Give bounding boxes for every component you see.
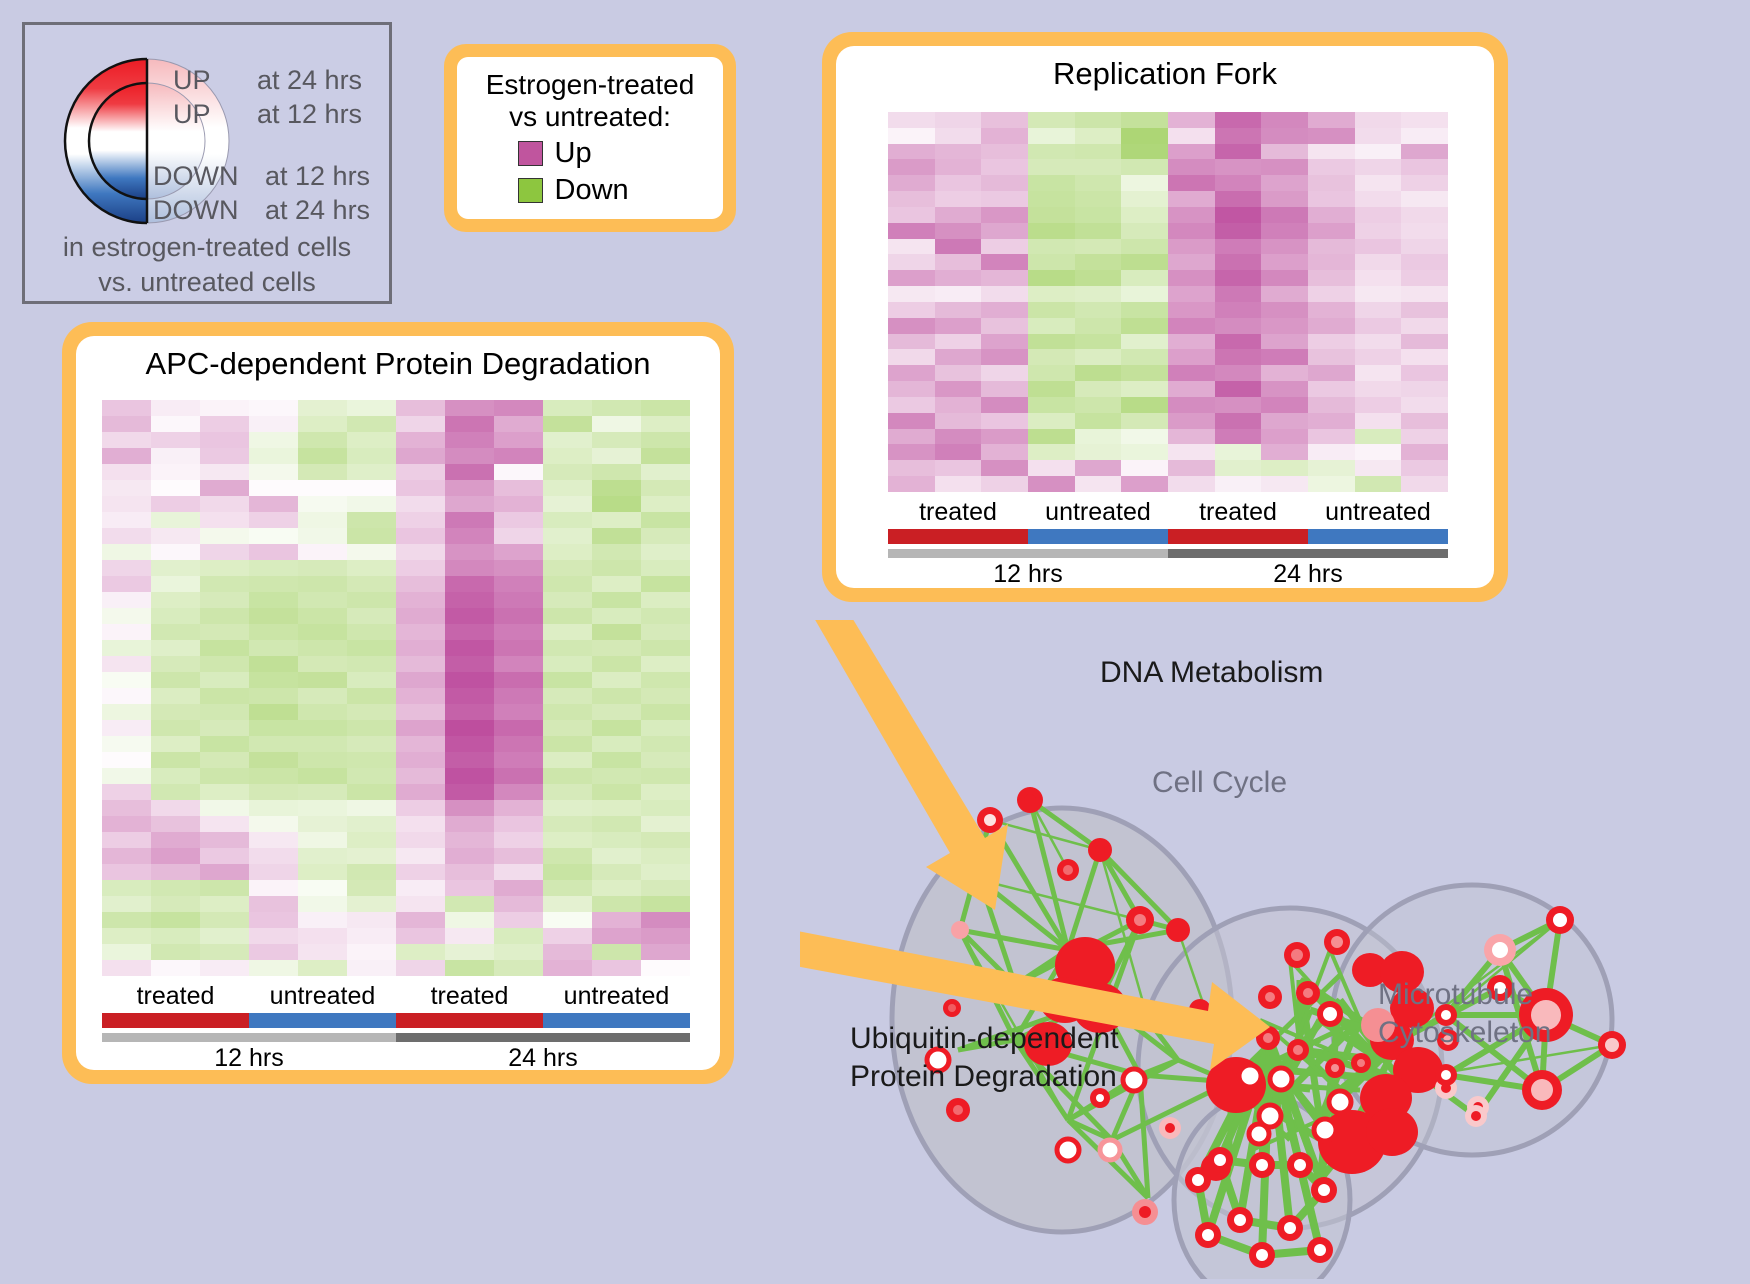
heatmap-cell [1401,286,1448,302]
heatmap-cell [347,512,396,528]
heatmap-cell [1028,270,1075,286]
heatmap-cell [641,688,690,704]
heatmap-cell [981,397,1028,413]
heatmap-cell [1355,112,1402,128]
heatmap-cell [1308,397,1355,413]
heatmap-cell [249,848,298,864]
heatmap-cell [445,656,494,672]
heatmap-cell [249,864,298,880]
heatmap-cell [1261,429,1308,445]
heatmap-cell [396,704,445,720]
heatmap-cell [592,784,641,800]
estrogen-legend-heading-line1: Estrogen-treated [467,69,713,101]
heatmap-cell [151,448,200,464]
heatmap-cell [1168,144,1215,160]
heatmap-cell [1308,429,1355,445]
heatmap-cell [102,464,151,480]
heatmap-cell [1215,239,1262,255]
cluster-label-cell-cycle: Cell Cycle [1152,766,1287,799]
heatmap-cell [298,416,347,432]
heatmap-cell [981,334,1028,350]
heatmap-cell [1308,223,1355,239]
heatmap-cell [445,736,494,752]
heatmap-cell [1355,144,1402,160]
heatmap-cell [151,544,200,560]
heatmap-cell [445,720,494,736]
heatmap-cell [592,912,641,928]
heatmap-cell [543,416,592,432]
heatmap-cell [249,416,298,432]
heatmap-cell [888,175,935,191]
heatmap-cell [151,400,200,416]
heatmap-cell [641,928,690,944]
group-label: untreated [1028,498,1168,527]
heatmap-cell [151,752,200,768]
timepoint-label: 24 hrs [396,1044,690,1073]
heatmap-cell [298,768,347,784]
heatmap-cell [641,448,690,464]
heatmap-cell [543,576,592,592]
heatmap-cell [347,560,396,576]
heatmap-cell [1075,413,1122,429]
heatmap-cell [445,480,494,496]
heatmap-cell [445,896,494,912]
heatmap-cell [1075,112,1122,128]
heatmap-cell [1168,381,1215,397]
heatmap-cell [543,672,592,688]
heatmap-cell [298,480,347,496]
heatmap-cell [1401,318,1448,334]
heatmap-cell [1168,270,1215,286]
heatmap-cell [102,784,151,800]
heatmap-cell [543,448,592,464]
heatmap-cell [1168,239,1215,255]
heatmap-cell [249,544,298,560]
down-color-swatch-icon [518,178,543,203]
heatmap-cell [981,239,1028,255]
heatmap-cell [981,476,1028,492]
heatmap-cell [1121,365,1168,381]
heatmap-cell [347,704,396,720]
heatmap-cell [543,640,592,656]
heatmap-cell [1215,476,1262,492]
heatmap-cell [494,864,543,880]
heatmap-cell [396,400,445,416]
heatmap-cell [641,800,690,816]
heatmap-cell [1308,175,1355,191]
heatmap-cell [1308,254,1355,270]
heatmap-cell [1261,413,1308,429]
up-color-swatch-icon [518,141,543,166]
heatmap-cell [1121,397,1168,413]
heatmap-cell [200,560,249,576]
heatmap-cell [1168,207,1215,223]
heatmap-cell [445,688,494,704]
heatmap-cell [1215,254,1262,270]
heatmap-cell [641,544,690,560]
heatmap-cell [1075,302,1122,318]
heatmap-cell [543,512,592,528]
group-labels-replication-fork: treateduntreatedtreateduntreated [888,498,1448,527]
group-label: untreated [1308,498,1448,527]
heatmap-cell [396,544,445,560]
heatmap-cell [1215,159,1262,175]
heatmap-cell [494,912,543,928]
heatmap-cell [641,784,690,800]
heatmap-cell [200,640,249,656]
heatmap-cell [445,864,494,880]
heatmap-cell [1028,207,1075,223]
heatmap-cell [298,400,347,416]
heatmap-cell [1401,349,1448,365]
heatmap-cell [102,720,151,736]
heatmap-cell [592,624,641,640]
heatmap-cell [249,704,298,720]
heatmap-cell [200,544,249,560]
heatmap-cell [298,704,347,720]
heatmap-cell [888,349,935,365]
network-svg: DNA Metabolism Cell Cycle Microtubule Cy… [800,620,1750,1279]
heatmap-cell [249,560,298,576]
heatmap-cell [1215,413,1262,429]
heatmap-cell [935,175,982,191]
heatmap-cell [1215,318,1262,334]
heatmap-cell [1168,175,1215,191]
heatmap-cell [396,512,445,528]
heatmap-cell [249,768,298,784]
heatmap-cell [592,880,641,896]
heatmap-cell [1308,460,1355,476]
heatmap-cell [981,429,1028,445]
heatmap-cell [347,576,396,592]
heatmap-cell [396,640,445,656]
heatmap-cell [1308,270,1355,286]
heatmap-cell [592,640,641,656]
heatmap-cell [151,816,200,832]
heatmap-cell [151,928,200,944]
heatmap-replication-fork [888,112,1448,492]
heatmap-cell [249,608,298,624]
heatmap-cell [249,688,298,704]
heatmap-cell [102,912,151,928]
heatmap-cell [592,816,641,832]
heatmap-cell [592,800,641,816]
heatmap-cell [102,400,151,416]
treatment-bar-segment [1308,529,1448,544]
heatmap-cell [151,896,200,912]
heatmap-cell [396,720,445,736]
heatmap-cell [543,608,592,624]
heatmap-cell [102,672,151,688]
heatmap-cell [981,381,1028,397]
heatmap-cell [445,784,494,800]
heatmap-cell [1308,207,1355,223]
heatmap-cell [200,672,249,688]
heatmap-cell [494,848,543,864]
heatmap-cell [200,960,249,976]
heatmap-cell [298,640,347,656]
heatmap-cell [445,464,494,480]
estrogen-legend-item-down: Down [467,174,713,207]
heatmap-cell [298,688,347,704]
heatmap-cell [494,816,543,832]
heatmap-cell [445,544,494,560]
heatmap-cell [249,592,298,608]
heatmap-cell [396,944,445,960]
heatmap-cell [1121,191,1168,207]
heatmap-cell [1401,429,1448,445]
heatmap-cell [200,864,249,880]
heatmap-cell [249,432,298,448]
heatmap-cell [151,576,200,592]
heatmap-cell [298,736,347,752]
heatmap-cell [445,592,494,608]
heatmap-cell [1215,381,1262,397]
heatmap-cell [1121,476,1168,492]
heatmap-cell [396,432,445,448]
heatmap-cell [347,848,396,864]
heatmap-cell [494,496,543,512]
heatmap-cell [200,512,249,528]
heatmap-cell [543,864,592,880]
heatmap-cell [1215,191,1262,207]
heatmap-cell [888,159,935,175]
heatmap-cell [641,864,690,880]
heatmap-cell [1028,429,1075,445]
heatmap-cell [1215,460,1262,476]
estrogen-legend-up-label: Up [555,137,663,170]
heatmap-cell [298,672,347,688]
heatmap-cell [347,800,396,816]
heatmap-cell [641,720,690,736]
heatmap-cell [396,416,445,432]
heatmap-cell [1355,159,1402,175]
heatmap-cell [200,736,249,752]
heatmap-cell [1215,207,1262,223]
heatmap-cell [102,432,151,448]
heatmap-cell [1121,270,1168,286]
heatmap-cell [543,704,592,720]
heatmap-cell [888,381,935,397]
heatmap-cell [298,560,347,576]
heatmap-cell [935,144,982,160]
heatmap-cell [543,816,592,832]
heatmap-cell [298,848,347,864]
heatmap-cell [1261,207,1308,223]
heatmap-cell [1401,476,1448,492]
timepoint-labels-replication-fork: 12 hrs24 hrs [888,560,1448,589]
heatmap-cell [1168,159,1215,175]
heatmap-cell [151,496,200,512]
heatmap-cell [981,270,1028,286]
heatmap-cell [396,928,445,944]
heatmap-cell [396,672,445,688]
heatmap-cell [102,480,151,496]
heatmap-cell [200,608,249,624]
heatmap-cell [396,608,445,624]
heatmap-cell [1261,444,1308,460]
heatmap-cell [445,880,494,896]
heatmap-cell [298,624,347,640]
heatmap-cell [592,960,641,976]
heatmap-cell [494,880,543,896]
heatmap-cell [200,656,249,672]
heatmap-cell [1401,302,1448,318]
heatmap-cell [1261,476,1308,492]
heatmap-cell [1075,444,1122,460]
heatmap-cell [1308,365,1355,381]
heatmap-cell [396,784,445,800]
heatmap-cell [298,752,347,768]
heatmap-cell [1355,318,1402,334]
heatmap-cell [1121,175,1168,191]
heatmap-cell [543,544,592,560]
heatmap-cell [102,416,151,432]
heatmap-cell [1028,128,1075,144]
heatmap-cell [200,592,249,608]
heatmap-cell [298,960,347,976]
group-labels-apc-degradation: treateduntreatedtreateduntreated [102,982,690,1011]
heatmap-cell [102,896,151,912]
heatmap-cell [445,672,494,688]
heatmap-cell [347,896,396,912]
heatmap-cell [200,704,249,720]
heatmap-cell [1028,413,1075,429]
heatmap-cell [1121,223,1168,239]
panel-apc-degradation-inner: APC-dependent Protein Degradation treate… [76,336,720,1070]
heatmap-cell [102,560,151,576]
heatmap-cell [249,480,298,496]
heatmap-cell [888,476,935,492]
heatmap-cell [888,128,935,144]
heatmap-cell [1121,381,1168,397]
heatmap-cell [494,512,543,528]
heatmap-cell [1075,286,1122,302]
heatmap-cell [347,624,396,640]
heatmap-cell [200,912,249,928]
heatmap-cell [1261,175,1308,191]
heatmap-cell [396,592,445,608]
heatmap-cell [1075,128,1122,144]
heatmap-cell [981,318,1028,334]
heatmap-cell [543,720,592,736]
heatmap-cell [592,512,641,528]
heatmap-cell [935,444,982,460]
heatmap-cell [1215,223,1262,239]
heatmap-cell [151,592,200,608]
heatmap-cell [151,640,200,656]
heatmap-cell [396,464,445,480]
heatmap-cell [1401,239,1448,255]
heatmap-cell [102,960,151,976]
heatmap-cell [494,400,543,416]
heatmap-cell [445,400,494,416]
heatmap-cell [1121,302,1168,318]
heatmap-cell [298,576,347,592]
heatmap-cell [151,832,200,848]
heatmap-cell [1401,270,1448,286]
heatmap-cell [1215,175,1262,191]
heatmap-cell [494,768,543,784]
heatmap-cell [592,448,641,464]
heatmap-cell [641,640,690,656]
heatmap-cell [592,832,641,848]
heatmap-cell [1168,302,1215,318]
heatmap-cell [445,624,494,640]
heatmap-cell [396,816,445,832]
heatmap-cell [888,191,935,207]
heatmap-cell [151,704,200,720]
ring-time-down-24: at 24 hrs [265,195,370,226]
heatmap-cell [249,400,298,416]
heatmap-cell [1261,270,1308,286]
heatmap-cell [298,944,347,960]
heatmap-cell [347,400,396,416]
heatmap-cell [543,528,592,544]
heatmap-cell [249,736,298,752]
heatmap-cell [445,768,494,784]
heatmap-cell [1355,302,1402,318]
heatmap-cell [151,944,200,960]
heatmap-cell [543,896,592,912]
heatmap-cell [1028,365,1075,381]
heatmap-cell [249,640,298,656]
heatmap-cell [494,480,543,496]
heatmap-cell [249,464,298,480]
heatmap-cell [641,880,690,896]
column-annotation-apc-degradation: treateduntreatedtreateduntreated 12 hrs2… [102,982,690,1073]
heatmap-cell [1075,318,1122,334]
heatmap-cell [592,608,641,624]
heatmap-cell [1168,476,1215,492]
heatmap-cell [641,512,690,528]
heatmap-cell [200,848,249,864]
treatment-bar-replication-fork [888,529,1448,544]
heatmap-cell [543,880,592,896]
heatmap-cell [592,864,641,880]
heatmap-cell [543,736,592,752]
heatmap-cell [249,784,298,800]
heatmap-cell [249,624,298,640]
timepoint-bar-segment [1168,549,1448,558]
heatmap-cell [445,640,494,656]
heatmap-cell [1308,302,1355,318]
heatmap-cell [151,672,200,688]
heatmap-cell [200,928,249,944]
heatmap-cell [102,640,151,656]
heatmap-cell [200,416,249,432]
heatmap-cell [543,912,592,928]
heatmap-cell [592,688,641,704]
heatmap-cell [1121,239,1168,255]
heatmap-cell [543,960,592,976]
heatmap-cell [641,960,690,976]
heatmap-cell [151,528,200,544]
heatmap-cell [1121,286,1168,302]
heatmap-cell [935,365,982,381]
heatmap-cell [888,302,935,318]
heatmap-cell [888,254,935,270]
heatmap-cell [1028,318,1075,334]
heatmap-cell [347,768,396,784]
heatmap-cell [445,512,494,528]
heatmap-cell [200,624,249,640]
heatmap-cell [1261,144,1308,160]
heatmap-cell [347,432,396,448]
heatmap-cell [888,413,935,429]
heatmap-cell [200,784,249,800]
heatmap-cell [494,720,543,736]
